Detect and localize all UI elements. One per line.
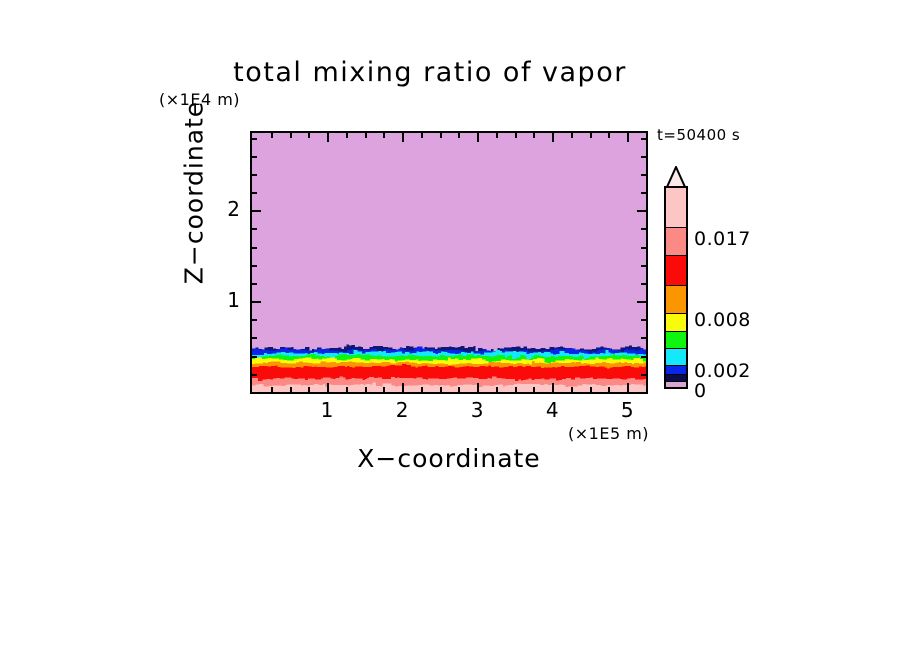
x-tick-label: 3 <box>457 398 497 422</box>
x-tick-label: 4 <box>532 398 572 422</box>
axis-tick <box>496 133 498 138</box>
colorbar-band <box>666 349 686 366</box>
axis-tick <box>627 383 629 392</box>
colorbar-band <box>666 188 686 228</box>
page-title: total mixing ratio of vapor <box>150 57 710 88</box>
axis-tick <box>365 133 367 138</box>
x-axis-title: X−coordinate <box>250 444 648 473</box>
axis-tick <box>383 133 385 138</box>
axis-tick <box>641 283 646 285</box>
axis-tick <box>571 133 573 138</box>
axis-tick <box>458 133 460 138</box>
x-tick-label: 2 <box>382 398 422 422</box>
axis-tick <box>496 387 498 392</box>
axis-tick <box>346 387 348 392</box>
axis-tick <box>365 387 367 392</box>
colorbar-band <box>666 256 686 286</box>
axis-tick <box>641 265 646 267</box>
y-tick-label: 2 <box>200 197 240 221</box>
colorbar-band <box>666 366 686 375</box>
axis-tick <box>421 133 423 138</box>
axis-tick <box>327 133 329 142</box>
axis-tick <box>627 133 629 142</box>
axis-tick <box>402 133 404 142</box>
axis-tick <box>477 133 479 142</box>
axis-tick <box>515 387 517 392</box>
x-tick-label: 5 <box>607 398 647 422</box>
axis-tick <box>252 228 257 230</box>
axis-tick <box>346 133 348 138</box>
colorbar-band <box>666 228 686 256</box>
axis-tick <box>641 356 646 358</box>
figure-canvas: total mixing ratio of vapor (×1E4 m) (×1… <box>0 0 904 654</box>
plot-area <box>250 131 648 394</box>
colorbar-tick-label: 0.008 <box>694 309 751 331</box>
axis-tick <box>308 387 310 392</box>
axis-tick <box>271 387 273 392</box>
axis-tick <box>252 319 257 321</box>
axis-tick <box>252 283 257 285</box>
axis-tick <box>533 387 535 392</box>
colorbar-arrow-tip <box>664 166 688 188</box>
x-tick-label: 1 <box>307 398 347 422</box>
axis-tick <box>402 383 404 392</box>
axis-tick <box>641 156 646 158</box>
axis-tick <box>308 133 310 138</box>
axis-tick <box>252 138 257 140</box>
axis-tick <box>252 174 257 176</box>
axis-tick <box>515 133 517 138</box>
axis-tick <box>383 387 385 392</box>
colorbar-band <box>666 382 686 387</box>
axis-tick <box>637 210 646 212</box>
axis-tick <box>637 301 646 303</box>
axis-tick <box>590 133 592 138</box>
axis-tick <box>552 133 554 142</box>
colorbar-tick-label: 0 <box>694 380 707 402</box>
axis-tick <box>458 387 460 392</box>
axis-tick <box>252 156 257 158</box>
axis-tick <box>608 133 610 138</box>
axis-tick <box>290 387 292 392</box>
axis-tick <box>252 265 257 267</box>
axis-tick <box>641 319 646 321</box>
axis-tick <box>252 210 261 212</box>
colorbar-band <box>666 286 686 314</box>
axis-tick <box>477 383 479 392</box>
axis-tick <box>552 383 554 392</box>
axis-tick <box>252 374 257 376</box>
colorbar-band <box>666 375 686 382</box>
axis-tick <box>641 138 646 140</box>
axis-tick <box>641 374 646 376</box>
contour-field <box>252 133 646 392</box>
axis-tick <box>252 356 257 358</box>
y-tick-label: 1 <box>200 288 240 312</box>
axis-tick <box>252 247 257 249</box>
timestamp-annotation: t=50400 s <box>657 126 740 144</box>
axis-tick <box>290 133 292 138</box>
axis-tick <box>590 387 592 392</box>
axis-tick <box>440 133 442 138</box>
axis-tick <box>252 337 257 339</box>
axis-tick <box>641 228 646 230</box>
axis-tick <box>327 383 329 392</box>
axis-tick <box>252 192 257 194</box>
axis-tick <box>641 337 646 339</box>
colorbar[interactable] <box>664 186 688 389</box>
x-axis-unit-label: (×1E5 m) <box>568 424 649 443</box>
axis-tick <box>641 247 646 249</box>
axis-tick <box>641 192 646 194</box>
axis-tick <box>252 301 261 303</box>
colorbar-band <box>666 332 686 349</box>
colorbar-band <box>666 314 686 332</box>
axis-tick <box>608 387 610 392</box>
axis-tick <box>440 387 442 392</box>
axis-tick <box>421 387 423 392</box>
axis-tick <box>533 133 535 138</box>
axis-tick <box>571 387 573 392</box>
axis-tick <box>641 174 646 176</box>
colorbar-tick-label: 0.017 <box>694 228 751 250</box>
colorbar-tick-label: 0.002 <box>694 360 751 382</box>
axis-tick <box>271 133 273 138</box>
